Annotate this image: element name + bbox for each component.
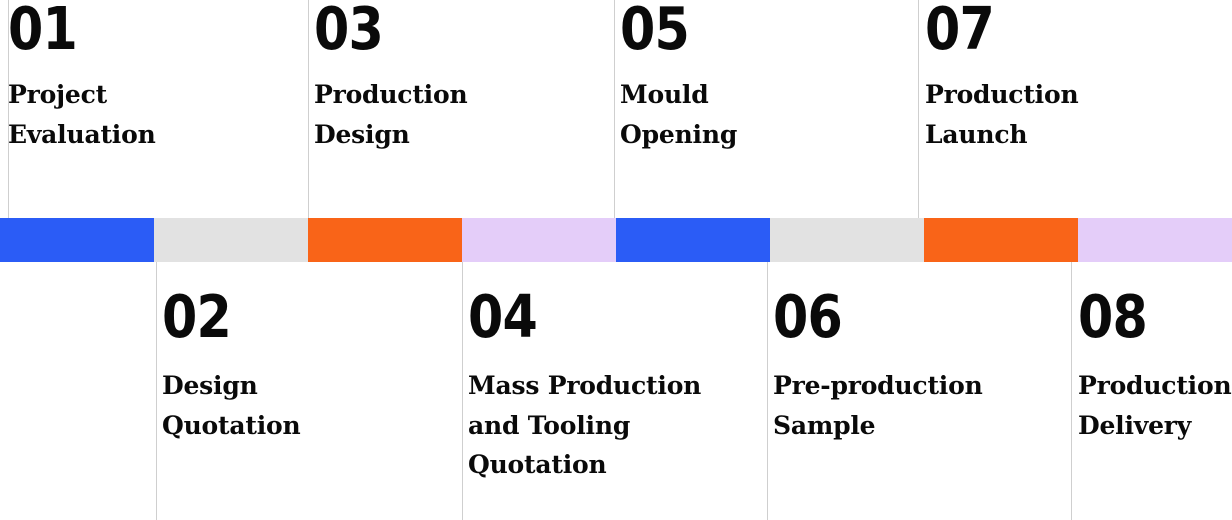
timeline-step-04: 04Mass Production and Tooling Quotation: [468, 290, 768, 485]
step-label: Production Launch: [925, 56, 1225, 154]
timeline-bar-segment-6: [770, 218, 924, 262]
step-number: 08: [1078, 290, 1232, 344]
timeline-bar-segment-7: [924, 218, 1078, 262]
step-label: Design Quotation: [162, 344, 462, 445]
timeline-bar-segment-1: [0, 218, 154, 262]
step-number: 02: [162, 290, 420, 344]
connector-rule-2: [156, 261, 157, 520]
step-label: Mass Production and Tooling Quotation: [468, 344, 768, 485]
connector-rule-3: [308, 0, 309, 219]
timeline-bar-segment-3: [308, 218, 462, 262]
timeline-bar-segment-8: [1078, 218, 1232, 262]
step-number: 07: [925, 0, 1183, 56]
timeline-step-03: 03Production Design: [314, 0, 614, 154]
step-number: 01: [8, 0, 266, 56]
connector-rule-4: [462, 261, 463, 520]
timeline-step-01: 01Project Evaluation: [8, 0, 308, 154]
process-timeline-diagram: 01Project Evaluation02Design Quotation03…: [0, 0, 1232, 520]
timeline-step-02: 02Design Quotation: [162, 290, 462, 445]
timeline-step-07: 07Production Launch: [925, 0, 1225, 154]
step-label: Pre-production Sample: [773, 344, 1073, 445]
connector-rule-5: [614, 0, 615, 219]
timeline-bar-segment-2: [154, 218, 308, 262]
timeline-step-05: 05Mould Opening: [620, 0, 920, 154]
step-number: 04: [468, 290, 726, 344]
step-label: Production Design: [314, 56, 614, 154]
timeline-bar-segment-5: [616, 218, 770, 262]
step-label: Mould Opening: [620, 56, 920, 154]
step-label: Production Delivery: [1078, 344, 1232, 445]
timeline-step-08: 08Production Delivery: [1078, 290, 1232, 445]
timeline-bar: [0, 218, 1232, 262]
timeline-step-06: 06Pre-production Sample: [773, 290, 1073, 445]
step-number: 06: [773, 290, 1031, 344]
step-label: Project Evaluation: [8, 56, 308, 154]
step-number: 05: [620, 0, 878, 56]
timeline-bar-segment-4: [462, 218, 616, 262]
step-number: 03: [314, 0, 572, 56]
